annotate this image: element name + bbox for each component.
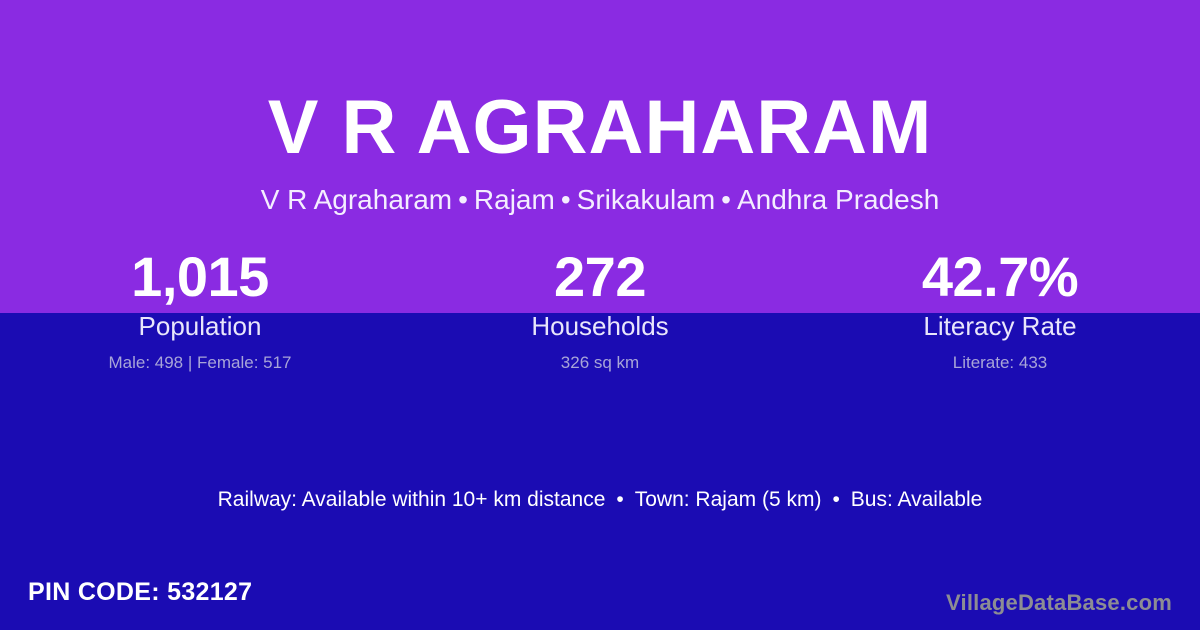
stats-row: 1,015 Population Male: 498 | Female: 517… bbox=[0, 246, 1200, 374]
card-content: V R AGRAHARAM V R Agraharam•Rajam•Srikak… bbox=[0, 0, 1200, 630]
breadcrumb-state: Andhra Pradesh bbox=[737, 184, 939, 215]
brand-watermark: VillageDataBase.com bbox=[946, 589, 1172, 617]
info-separator-2: • bbox=[821, 488, 850, 511]
page-title: V R AGRAHARAM bbox=[0, 86, 1200, 170]
breadcrumb-mandal: Rajam bbox=[474, 184, 555, 215]
stat-label: Population bbox=[0, 310, 400, 342]
stat-label: Households bbox=[400, 310, 800, 342]
stat-sublabel: 326 sq km bbox=[400, 352, 800, 374]
amenities-info-line: Railway: Available within 10+ km distanc… bbox=[0, 486, 1200, 514]
breadcrumb-separator-1: • bbox=[452, 184, 474, 215]
pin-code: PIN CODE: 532127 bbox=[28, 576, 252, 608]
village-info-card: V R AGRAHARAM V R Agraharam•Rajam•Srikak… bbox=[0, 0, 1200, 630]
info-separator-1: • bbox=[605, 488, 634, 511]
breadcrumb-village: V R Agraharam bbox=[261, 184, 452, 215]
stat-value: 42.7% bbox=[800, 246, 1200, 308]
breadcrumb: V R Agraharam•Rajam•Srikakulam•Andhra Pr… bbox=[0, 182, 1200, 218]
breadcrumb-separator-3: • bbox=[715, 184, 737, 215]
stat-population: 1,015 Population Male: 498 | Female: 517 bbox=[0, 246, 400, 374]
stat-value: 272 bbox=[400, 246, 800, 308]
info-bus: Bus: Available bbox=[851, 488, 983, 511]
stat-households: 272 Households 326 sq km bbox=[400, 246, 800, 374]
stat-label: Literacy Rate bbox=[800, 310, 1200, 342]
info-railway: Railway: Available within 10+ km distanc… bbox=[218, 488, 606, 511]
breadcrumb-district: Srikakulam bbox=[577, 184, 715, 215]
stat-literacy-rate: 42.7% Literacy Rate Literate: 433 bbox=[800, 246, 1200, 374]
stat-value: 1,015 bbox=[0, 246, 400, 308]
breadcrumb-separator-2: • bbox=[555, 184, 577, 215]
info-town: Town: Rajam (5 km) bbox=[635, 488, 822, 511]
stat-sublabel: Literate: 433 bbox=[800, 352, 1200, 374]
stat-sublabel: Male: 498 | Female: 517 bbox=[0, 352, 400, 374]
